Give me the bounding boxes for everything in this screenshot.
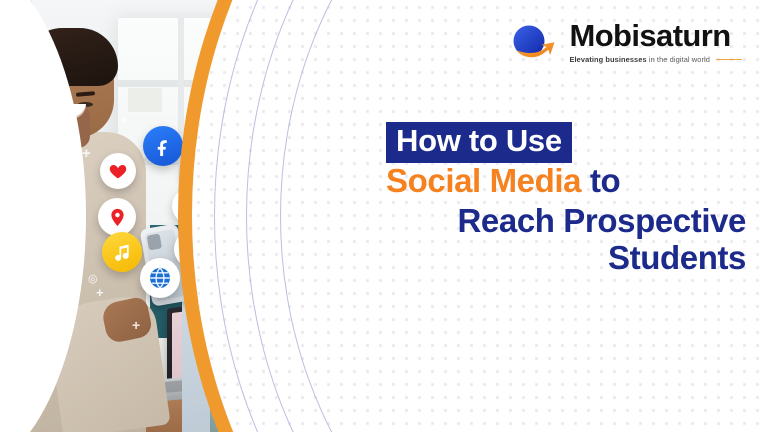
facebook-icon[interactable] xyxy=(143,126,183,166)
logo-tagline-rule xyxy=(716,59,742,60)
headline-line-4: Students xyxy=(386,239,746,277)
location-icon[interactable] xyxy=(98,198,136,236)
marketing-banner: + + + + + + + ◎ ◎ xyxy=(0,0,768,432)
headline-line-3: Reach Prospective xyxy=(386,202,746,240)
sparkle-plus-icon: + xyxy=(96,286,104,299)
logo-tagline: Elevating businesses in the digital worl… xyxy=(570,55,711,64)
sparkle-plus-icon: + xyxy=(120,114,127,126)
headline-block: How to Use Social Media to Reach Prospec… xyxy=(386,122,746,277)
heart-icon[interactable] xyxy=(100,153,136,189)
headline-line-2: Social Media to xyxy=(386,163,746,200)
logo-tagline-rest: in the digital world xyxy=(649,55,710,64)
headline-line-2-rest: to xyxy=(590,162,620,199)
saturn-planet-arrow-icon xyxy=(509,19,561,65)
sparkle-circle-icon: ◎ xyxy=(88,274,98,285)
logo-tagline-bold: Elevating businesses xyxy=(570,55,647,64)
phone-camera xyxy=(147,233,162,250)
sparkle-plus-icon: + xyxy=(82,146,91,161)
brand-logo[interactable]: Mobisaturn Elevating businesses in the d… xyxy=(509,19,743,65)
sparkle-plus-icon: + xyxy=(132,318,140,332)
music-icon[interactable] xyxy=(102,232,142,272)
headline-highlight-social-media: Social Media xyxy=(386,162,581,199)
headline-line-1: How to Use xyxy=(386,122,572,163)
logo-wordmark: Mobisaturn xyxy=(570,20,731,51)
globe-icon[interactable] xyxy=(140,258,180,298)
